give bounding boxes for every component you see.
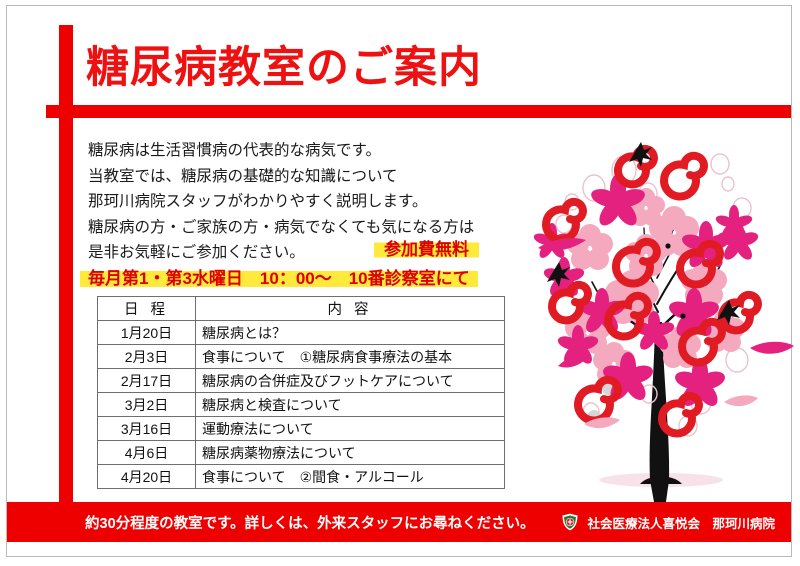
cell-date: 3月16日 [98, 417, 196, 441]
crest-logo-icon [560, 512, 580, 532]
intro-line-3: 那珂川病院スタッフがわかりやすく説明します。 [88, 189, 538, 215]
accent-bar-horizontal [46, 105, 791, 118]
table-row: 1月20日 糖尿病とは？ [98, 321, 505, 345]
accent-bar-vertical [59, 25, 73, 503]
intro-line-2: 当教室では、糖尿病の基礎的な知識について [88, 164, 538, 190]
cell-topic: 食事について ②間食・アルコール [196, 465, 505, 489]
intro-line-4: 糖尿病の方・ご家族の方・病気でなくても気になる方は [88, 215, 538, 241]
free-admission-badge: 参加費無料 [374, 238, 479, 262]
cell-date: 2月3日 [98, 345, 196, 369]
table-row: 3月16日 運動療法について [98, 417, 505, 441]
table-row: 3月2日 糖尿病と検査について [98, 393, 505, 417]
table-row: 2月3日 食事について ①糖尿病食事療法の基本 [98, 345, 505, 369]
footer-bar: 約30分程度の教室です。詳しくは、外来スタッフにお尋ねください。 社会医療法人喜… [7, 502, 791, 542]
cell-date: 4月20日 [98, 465, 196, 489]
table-header-topic: 内 容 [196, 297, 505, 321]
table-header-row: 日 程 内 容 [98, 297, 505, 321]
cell-topic: 糖尿病とは？ [196, 321, 505, 345]
floral-tree-illustration [528, 136, 800, 502]
cell-date: 4月6日 [98, 441, 196, 465]
table-row: 4月20日 食事について ②間食・アルコール [98, 465, 505, 489]
cell-date: 2月17日 [98, 369, 196, 393]
table-header-date: 日 程 [98, 297, 196, 321]
table-row: 4月6日 糖尿病薬物療法について [98, 441, 505, 465]
schedule-table: 日 程 内 容 1月20日 糖尿病とは？ 2月3日 食事について ①糖尿病食事療… [97, 296, 505, 489]
cell-topic: 糖尿病と検査について [196, 393, 505, 417]
intro-line-1: 糖尿病は生活習慣病の代表的な病気です。 [88, 138, 538, 164]
footer-note: 約30分程度の教室です。詳しくは、外来スタッフにお尋ねください。 [85, 512, 535, 533]
cell-date: 1月20日 [98, 321, 196, 345]
cell-topic: 運動療法について [196, 417, 505, 441]
cell-date: 3月2日 [98, 393, 196, 417]
footer-organization: 社会医療法人喜悦会 那珂川病院 [560, 512, 775, 532]
poster-canvas: 糖尿病教室のご案内 糖尿病は生活習慣病の代表的な病気です。 当教室では、糖尿病の… [0, 0, 800, 566]
cell-topic: 糖尿病薬物療法について [196, 441, 505, 465]
schedule-highlight-line: 毎月第1・第3水曜日 10：00〜 10番診察室にて [80, 267, 478, 291]
page-title: 糖尿病教室のご案内 [86, 47, 482, 90]
cell-topic: 食事について ①糖尿病食事療法の基本 [196, 345, 505, 369]
cell-topic: 糖尿病の合併症及びフットケアについて [196, 369, 505, 393]
table-row: 2月17日 糖尿病の合併症及びフットケアについて [98, 369, 505, 393]
organization-name: 社会医療法人喜悦会 那珂川病院 [587, 513, 775, 532]
